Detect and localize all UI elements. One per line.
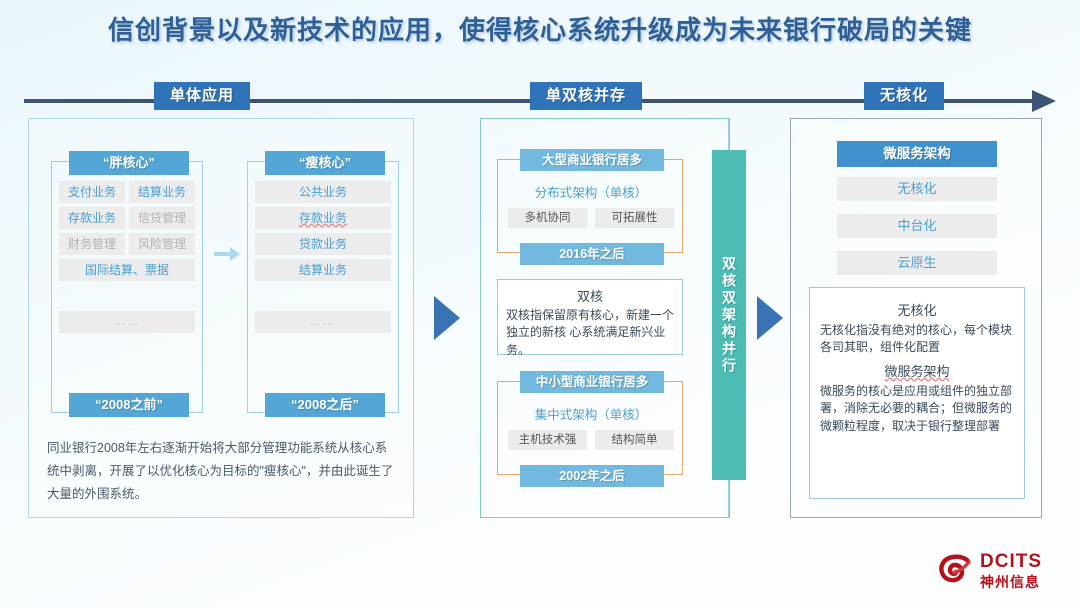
large-banks-subtitle: 分布式架构（单核） [498,182,684,201]
tag: 多机协同 [508,208,587,228]
page-title: 信创背景以及新技术的应用，使得核心系统升级成为未来银行破局的关键 [0,10,1080,47]
large-banks-caption: 大型商业银行居多 [520,149,664,171]
tag: 结构简单 [595,430,674,450]
logo-text-en: DCITS [980,551,1042,573]
timeline-stage-2[interactable]: 单双核并存 [530,82,642,110]
fat-core-era-label: “2008之前” [69,393,189,417]
list-item: 结算业务 [255,259,391,281]
group-large-banks: 大型商业银行居多 分布式架构（单核） 多机协同 可拓展性 2016年之后 [497,159,683,253]
coreless-note-head-1: 无核化 [820,300,1014,319]
large-banks-era-label: 2016年之后 [520,243,664,265]
thin-core-cell-list: 公共业务 存款业务 贷款业务 结算业务 …… [255,181,391,333]
small-banks-caption: 中小型商业银行居多 [520,371,664,393]
stage-arrow-2-to-3-icon [757,296,783,340]
list-item: 贷款业务 [255,233,391,255]
large-banks-tags: 多机协同 可拓展性 [508,208,674,228]
small-banks-subtitle: 集中式架构（单核） [498,404,684,423]
list-item: 公共业务 [255,181,391,203]
column-fat-core: “胖核心” 支付业务 结算业务 存款业务 信贷管理 财务管理 风险管理 国际结算… [51,151,203,411]
fat-core-caption: “胖核心” [69,151,189,175]
fat-core-cell-list: 支付业务 结算业务 存款业务 信贷管理 财务管理 风险管理 国际结算、票据 …… [59,181,195,333]
group-small-banks: 中小型商业银行居多 集中式架构（单核） 主机技术强 结构简单 2002年之后 [497,381,683,475]
list-item-ellipsis: …… [255,311,391,333]
stage-arrow-1-to-2-icon [434,296,460,340]
microservice-caption: 微服务架构 [837,141,997,167]
transition-arrow-icon [214,247,240,261]
pill-coreless: 无核化 [837,177,997,201]
coreless-note-body-2: 微服务的核心是应用或组件的独立部署，消除无必要的耦合；但微服务的微颗粒程度，取决… [820,383,1014,435]
panel-dual-core: 大型商业银行居多 分布式架构（单核） 多机协同 可拓展性 2016年之后 双核 … [480,118,730,518]
logo-text-cn: 神州信息 [980,572,1040,592]
tag: 可拓展性 [595,208,674,228]
list-item: 财务管理 [59,233,125,255]
dual-core-note-title: 双核 [506,286,674,305]
pill-midplatform: 中台化 [837,214,997,238]
timeline: 单体应用 单双核并存 无核化 [24,88,1056,114]
list-item: 支付业务 [59,181,125,203]
coreless-note-body-1: 无核化指没有绝对的核心，每个模块各司其职，组件化配置 [820,322,1014,357]
list-item: 存款业务 [59,207,125,229]
list-item: 结算业务 [129,181,195,203]
small-banks-era-label: 2002年之后 [520,465,664,487]
list-item: 存款业务 [255,207,391,229]
panel-coreless: 微服务架构 无核化 中台化 云原生 无核化 无核化指没有绝对的核心，每个模块各司… [790,118,1042,518]
list-item: 国际结算、票据 [59,259,195,281]
pill-cloudnative: 云原生 [837,251,997,275]
small-banks-tags: 主机技术强 结构简单 [508,430,674,450]
dual-core-note: 双核 双核指保留原有核心，新建一个独立的新核 心系统满足新兴业务。 [497,279,683,355]
panel-monolithic-description: 同业银行2008年左右逐渐开始将大部分管理功能系统从核心系统中剥离，开展了以优化… [47,437,397,506]
panel-monolithic: “胖核心” 支付业务 结算业务 存款业务 信贷管理 财务管理 风险管理 国际结算… [28,118,414,518]
timeline-stage-1[interactable]: 单体应用 [154,82,250,110]
vertical-bar-dual-architecture: 双核双架构并行 [712,150,746,480]
list-item: 信贷管理 [129,207,195,229]
timeline-stage-3[interactable]: 无核化 [864,82,944,110]
coreless-note-head-2: 微服务架构 [820,361,1014,380]
column-thin-core: “瘦核心” 公共业务 存款业务 贷款业务 结算业务 …… “2008之后” [247,151,399,411]
list-item: 风险管理 [129,233,195,255]
list-item-ellipsis: …… [59,311,195,333]
list-item-blank [59,285,195,307]
vertical-bar-stem-bottom [728,480,729,518]
dcits-swirl-icon [938,553,974,589]
company-logo: DCITS 神州信息 [938,549,1066,595]
thin-core-caption: “瘦核心” [265,151,385,175]
coreless-note: 无核化 无核化指没有绝对的核心，每个模块各司其职，组件化配置 微服务架构 微服务… [809,287,1025,499]
tag: 主机技术强 [508,430,587,450]
thin-core-era-label: “2008之后” [265,393,385,417]
dual-core-note-body: 双核指保留原有核心，新建一个独立的新核 心系统满足新兴业务。 [506,307,674,359]
vertical-bar-stem-top [728,118,729,150]
list-item-blank [255,285,391,307]
timeline-arrow-icon [1032,90,1056,112]
